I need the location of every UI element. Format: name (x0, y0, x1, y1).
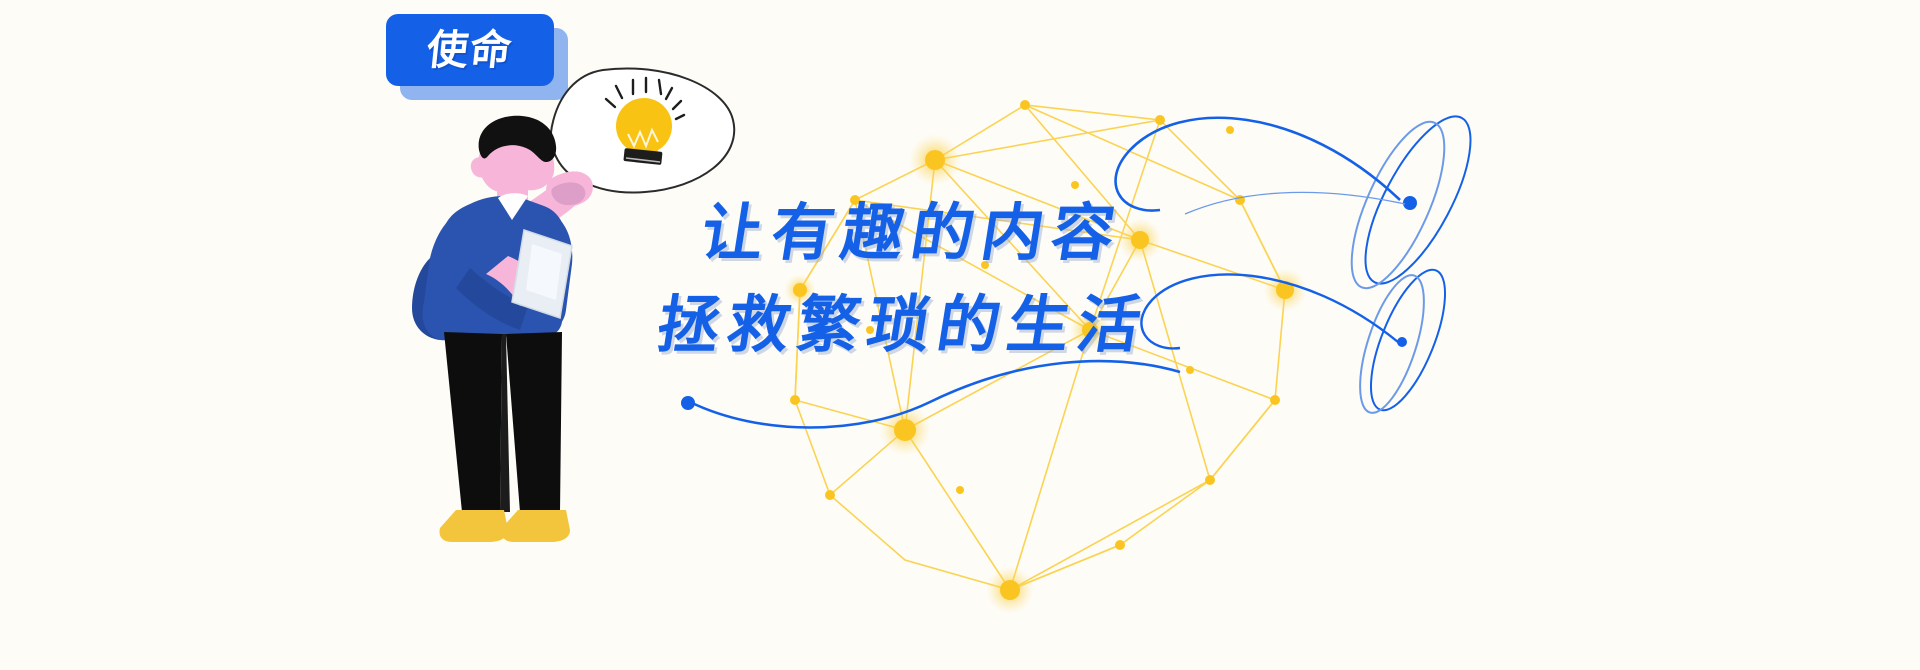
lightbulb-glass (616, 98, 672, 154)
person-illustration (0, 0, 1920, 670)
person-legs (444, 332, 562, 512)
person-shoes (440, 510, 571, 542)
banner-canvas: 使命 让有趣的内容 拯救繁琐的生活 (0, 0, 1920, 670)
